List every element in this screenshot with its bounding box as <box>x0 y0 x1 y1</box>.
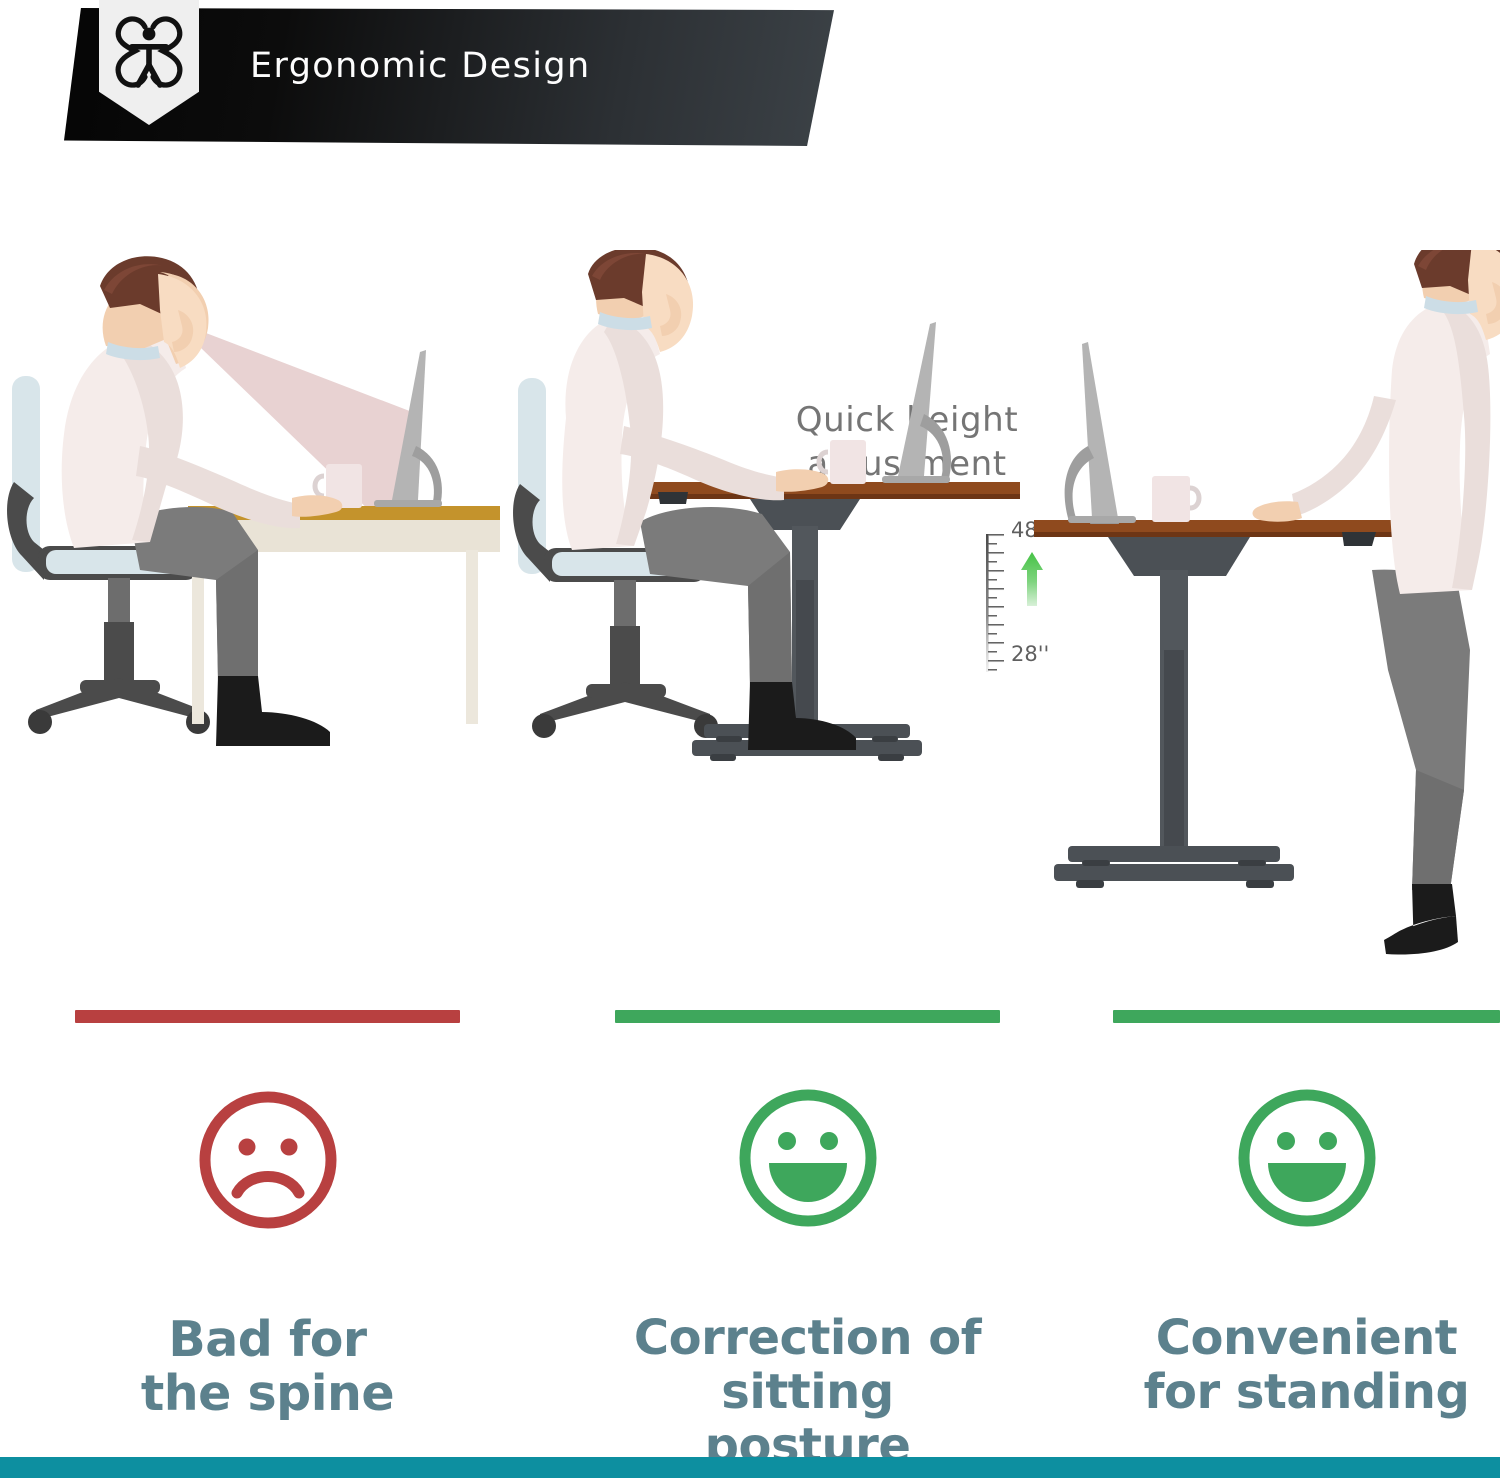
caption-standing-line-1: Convenient <box>1113 1311 1500 1365</box>
happy-face-icon <box>1232 1083 1382 1233</box>
divider-rule-standing <box>1113 1010 1500 1023</box>
caption-bad: Bad for the spine <box>75 1313 460 1421</box>
footer-block-sitting: Correction of sitting posture <box>615 1010 1000 1410</box>
page-title: Ergonomic Design <box>250 46 591 86</box>
footer-block-bad: Bad for the spine <box>75 1010 460 1410</box>
caption-sitting: Correction of sitting posture <box>615 1311 1000 1473</box>
desk-controller <box>1342 532 1376 546</box>
scene-man-slouching-at-fixed-desk <box>0 250 500 1010</box>
computer-monitor <box>882 322 951 483</box>
illustration-panel-sitting-corrected <box>500 250 1020 1010</box>
infographic-canvas: Ergonomic Design Quick height adjustment <box>0 0 1500 1478</box>
divider-rule-sitting <box>615 1010 1000 1023</box>
scene-man-standing-at-raised-desk <box>1020 250 1500 1010</box>
caption-bad-line-2: the spine <box>75 1367 460 1421</box>
person-standing <box>1253 250 1500 955</box>
illustration-panel-standing <box>1020 250 1500 1010</box>
coffee-mug <box>1152 476 1199 522</box>
caption-standing-line-2: for standing <box>1113 1365 1500 1419</box>
computer-monitor <box>1065 342 1136 524</box>
caption-standing: Convenient for standing <box>1113 1311 1500 1419</box>
illustration-panel-bad-posture <box>0 250 500 1010</box>
caption-sitting-line-1: Correction of <box>615 1311 1000 1365</box>
happy-face-icon <box>733 1083 883 1233</box>
bottom-accent-bar <box>0 1457 1500 1478</box>
divider-rule-bad <box>75 1010 460 1023</box>
caption-bad-line-1: Bad for <box>75 1313 460 1367</box>
footer-block-standing: Convenient for standing <box>1113 1010 1500 1410</box>
ergonomic-human-figure-icon <box>111 11 187 97</box>
desk-controller <box>658 492 688 504</box>
sad-face-icon <box>193 1085 343 1235</box>
height-adjustable-desk-raised <box>1034 520 1394 888</box>
scene-man-sitting-upright-at-adjustable-desk <box>500 250 1020 1010</box>
header-banner: Ergonomic Design <box>0 0 900 170</box>
